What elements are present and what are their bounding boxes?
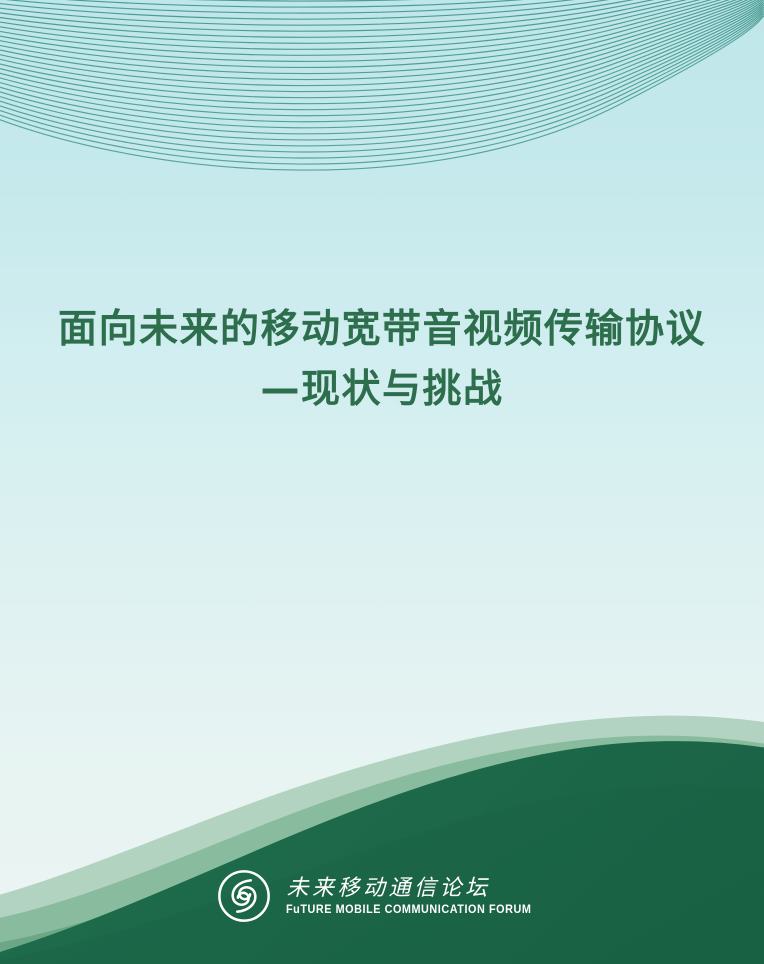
logo-wordmark: 未来移动通信论坛 FuTURE MOBILE COMMUNICATION FOR… <box>286 876 547 917</box>
contour-line <box>0 14 764 170</box>
cover-title-line-2: —现状与挑战 <box>0 360 764 420</box>
contour-line <box>0 0 764 7</box>
top-contour-lines <box>0 0 764 170</box>
document-cover-page: 面向未来的移动宽带音视频传输协议 —现状与挑战 未来移动通信论坛 FuTURE … <box>0 0 764 964</box>
contour-line <box>0 0 764 67</box>
logo-name-english: FuTURE MOBILE COMMUNICATION FORUM <box>286 903 531 917</box>
cover-title-line-1: 面向未来的移动宽带音视频传输协议 <box>0 300 764 360</box>
contour-line <box>0 1 764 128</box>
logo-name-chinese: 未来移动通信论坛 <box>286 876 490 902</box>
bottom-hills <box>0 716 764 964</box>
organization-logo-block: 未来移动通信论坛 FuTURE MOBILE COMMUNICATION FOR… <box>0 868 764 924</box>
contour-line <box>0 0 764 98</box>
cover-title-block: 面向未来的移动宽带音视频传输协议 —现状与挑战 <box>0 300 764 420</box>
forum-swirl-logo-icon <box>216 868 272 924</box>
cover-background-artwork <box>0 0 764 964</box>
